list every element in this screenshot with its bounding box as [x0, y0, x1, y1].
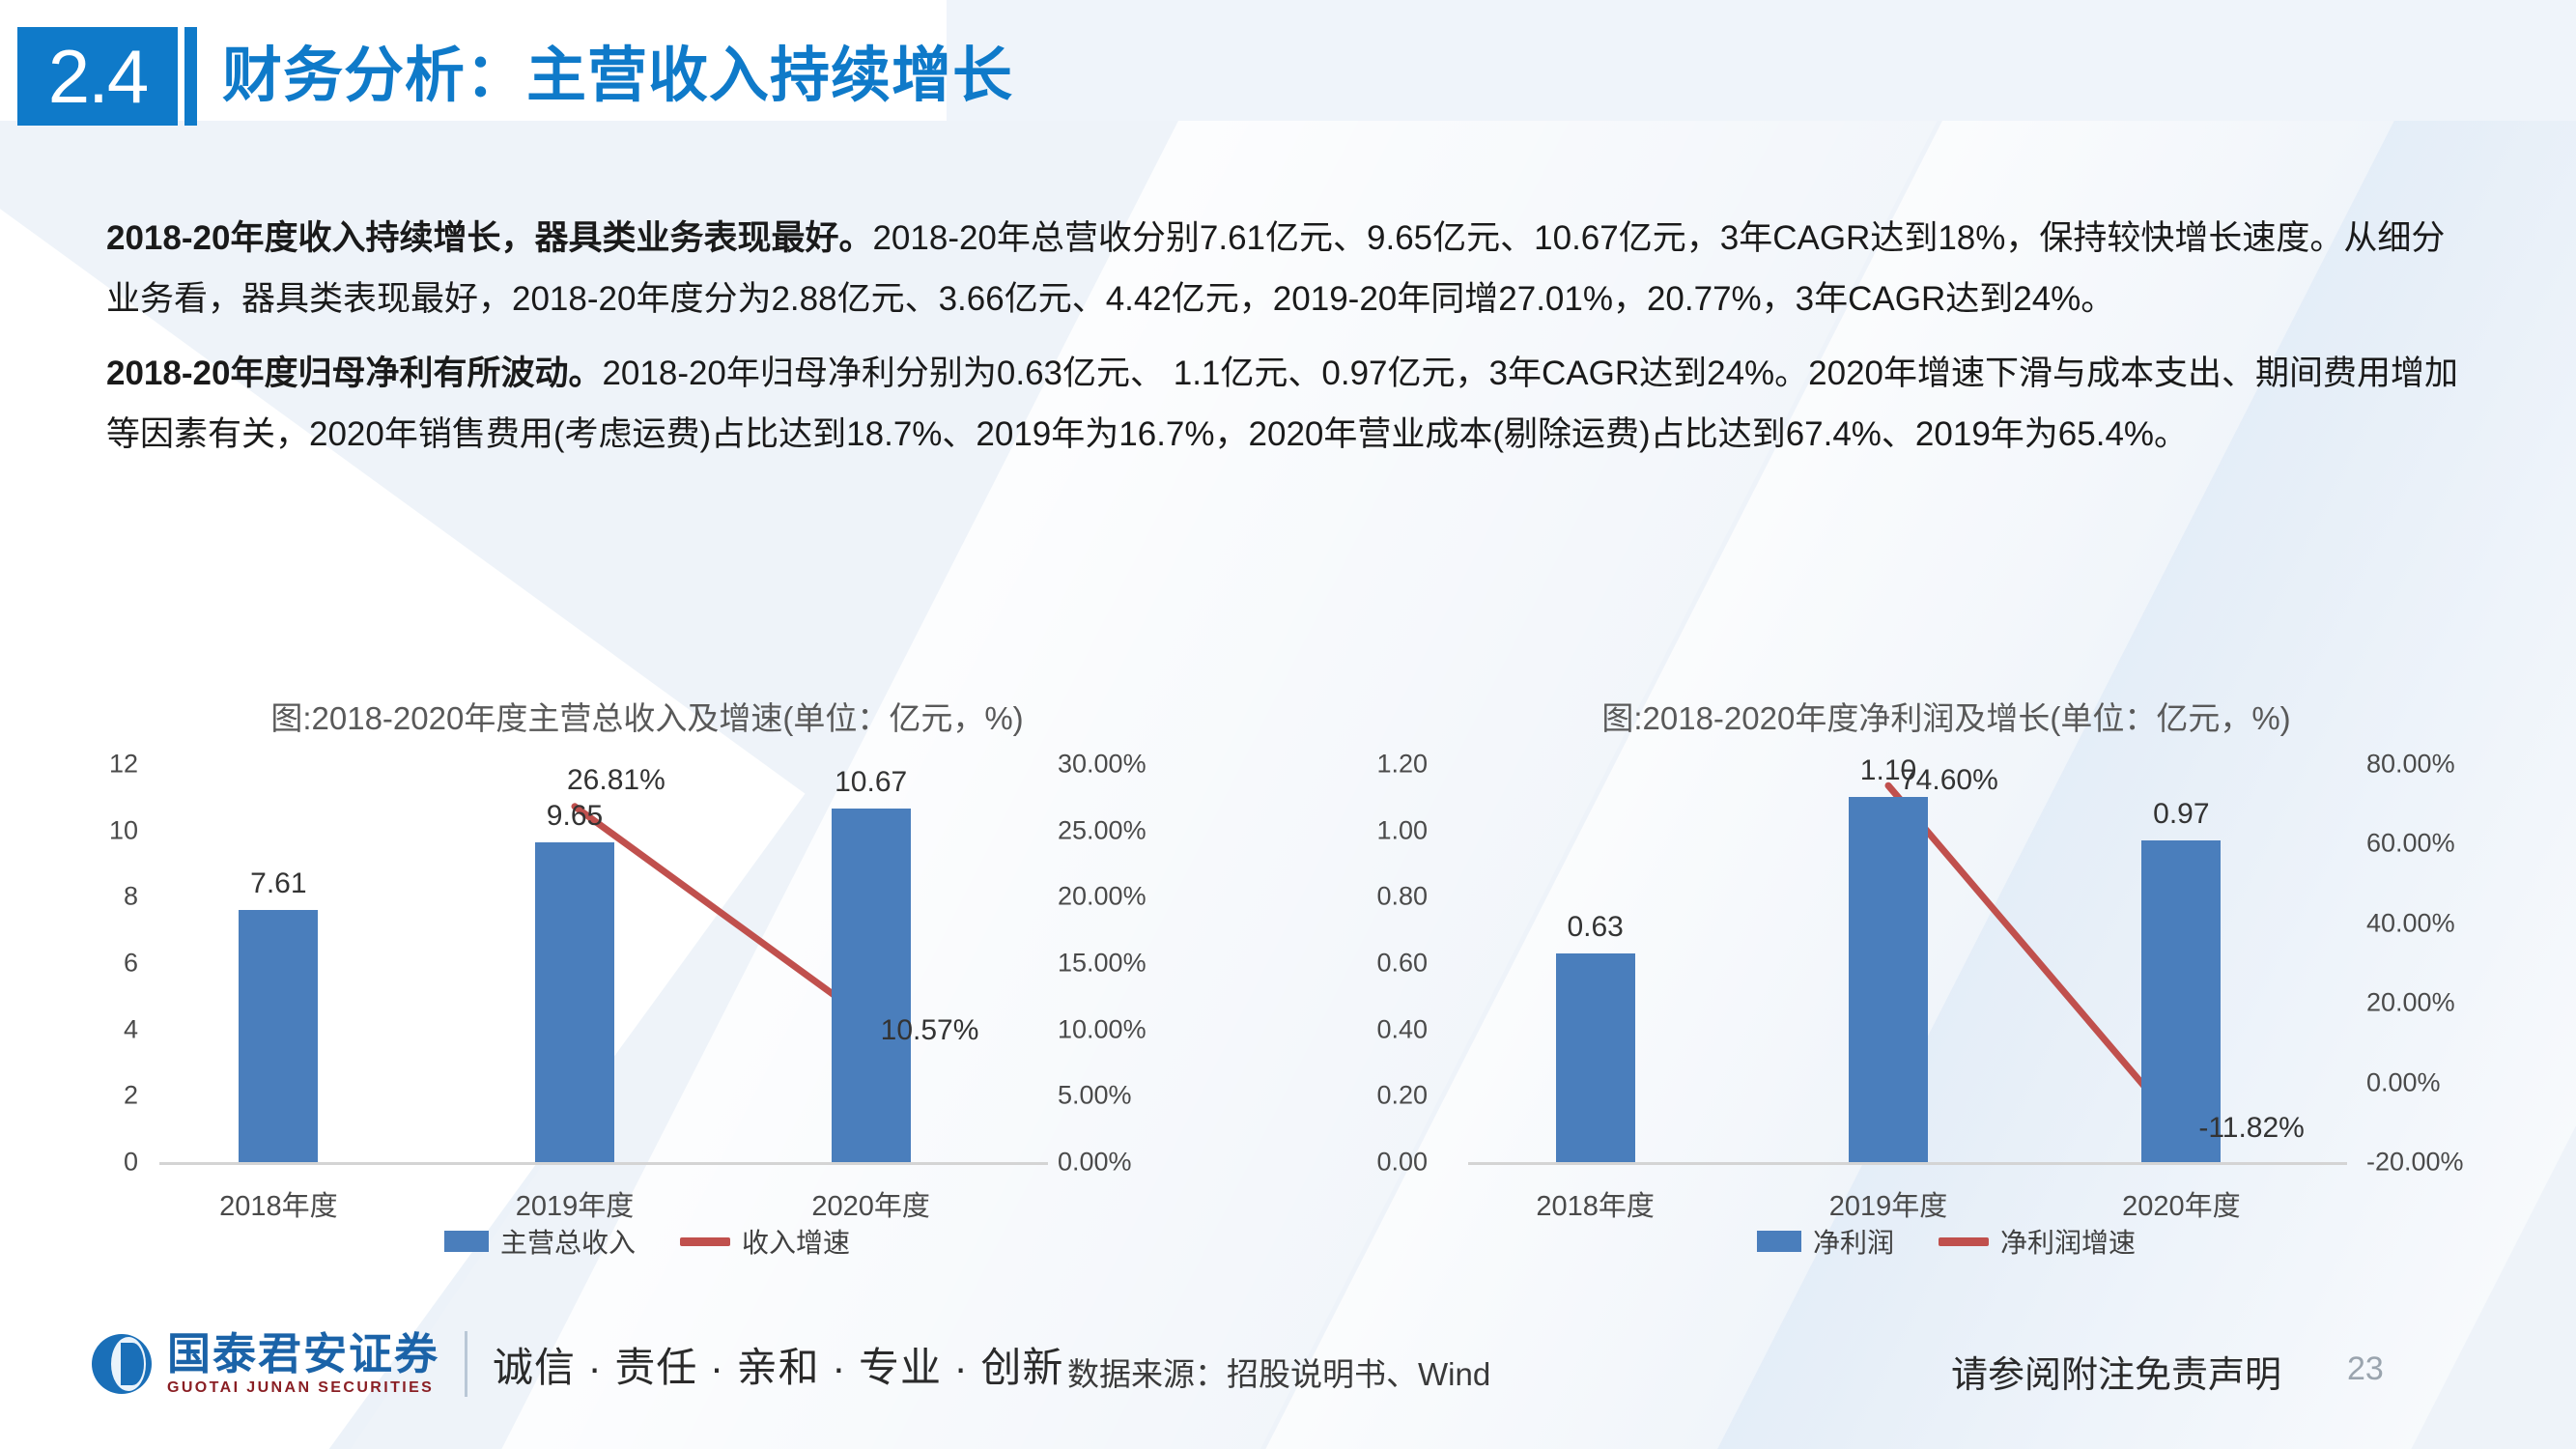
logo-text: 国泰君安证券 GUOTAI JUNAN SECURITIES: [167, 1332, 439, 1397]
y-axis-tick-right: 60.00%: [2366, 829, 2550, 859]
x-axis-tick: 2020年度: [2122, 1183, 2241, 1224]
chart-profit: 图:2018-2020年度净利润及增长(单位：亿元，%) 0.000.200.4…: [1343, 681, 2550, 1299]
header-accent-bar: [184, 27, 197, 126]
y-axis-tick-right: 80.00%: [2366, 750, 2550, 780]
body-text-block: 2018-20年度收入持续增长，器具类业务表现最好。2018-20年总营收分别7…: [106, 208, 2473, 478]
legend-label-line: 收入增速: [742, 1222, 850, 1261]
chart-revenue-legend: 主营总收入 收入增速: [53, 1222, 1241, 1261]
bar-2018年度: [239, 910, 318, 1162]
y-axis-tick-left: 4: [53, 1014, 138, 1044]
y-axis-tick-left: 12: [53, 750, 138, 780]
slide-header: 2.4 财务分析：主营收入持续增长: [17, 27, 1013, 126]
y-axis-tick-left: 0.60: [1343, 949, 1428, 979]
y-axis-tick-left: 2: [53, 1081, 138, 1111]
slide-page: 2.4 财务分析：主营收入持续增长 2018-20年度收入持续增长，器具类业务表…: [0, 0, 2576, 1449]
legend-item-line: 收入增速: [680, 1222, 850, 1261]
bar-2020年度: [832, 809, 911, 1162]
y-axis-tick-right: 25.00%: [1058, 815, 1241, 845]
bar-value-label: 10.67: [835, 766, 907, 799]
bar-value-label: 0.63: [1567, 911, 1623, 944]
chart-revenue-plot: 0246810120.00%5.00%10.00%15.00%20.00%25.…: [53, 756, 1241, 1172]
line-value-label: 10.57%: [881, 1014, 979, 1047]
chart-profit-plot: 0.000.200.400.600.801.001.20-20.00%0.00%…: [1343, 756, 2550, 1172]
chart-profit-line: [1343, 756, 2550, 1172]
chart-profit-title: 图:2018-2020年度净利润及增长(单位：亿元，%): [1343, 681, 2550, 739]
logo-name-en: GUOTAI JUNAN SECURITIES: [167, 1379, 439, 1397]
paragraph-1: 2018-20年度收入持续增长，器具类业务表现最好。2018-20年总营收分别7…: [106, 208, 2473, 329]
logo-name-cn: 国泰君安证券: [167, 1332, 439, 1376]
y-axis-tick-right: 40.00%: [2366, 908, 2550, 938]
legend-item-bar: 主营总收入: [444, 1222, 636, 1261]
x-axis-tick: 2018年度: [1536, 1183, 1655, 1224]
x-axis-tick: 2018年度: [219, 1183, 338, 1224]
y-axis-tick-left: 0.80: [1343, 882, 1428, 912]
y-axis-tick-left: 0.00: [1343, 1148, 1428, 1178]
paragraph-2: 2018-20年度归母净利有所波动。2018-20年归母净利分别为0.63亿元、…: [106, 343, 2473, 465]
x-axis-line: [1468, 1162, 2347, 1165]
bar-value-label: 7.61: [250, 867, 306, 900]
legend-item-line: 净利润增速: [1939, 1222, 2136, 1261]
y-axis-tick-left: 0: [53, 1148, 138, 1178]
legend-label-bar: 净利润: [1813, 1222, 1894, 1261]
y-axis-tick-right: 20.00%: [1058, 882, 1241, 912]
bar-value-label: 9.65: [547, 800, 603, 833]
slide-footer: 国泰君安证券 GUOTAI JUNAN SECURITIES 诚信 · 责任 ·…: [0, 1323, 2576, 1449]
logo-divider: [465, 1331, 467, 1397]
line-swatch-icon: [680, 1237, 730, 1246]
x-axis-line: [159, 1162, 1048, 1165]
y-axis-tick-right: 5.00%: [1058, 1081, 1241, 1111]
chart-profit-legend: 净利润 净利润增速: [1343, 1222, 2550, 1261]
legend-item-bar: 净利润: [1757, 1222, 1894, 1261]
bar-2019年度: [1849, 797, 1928, 1162]
chart-revenue: 图:2018-2020年度主营总收入及增速(单位：亿元，%) 024681012…: [53, 681, 1241, 1299]
legend-label-bar: 主营总收入: [500, 1222, 636, 1261]
paragraph-2-lead: 2018-20年度归母净利有所波动。: [106, 355, 602, 392]
y-axis-tick-left: 1.20: [1343, 750, 1428, 780]
x-axis-tick: 2019年度: [1829, 1183, 1948, 1224]
disclaimer-note: 请参阅附注免责声明: [1951, 1345, 2281, 1398]
charts-row: 图:2018-2020年度主营总收入及增速(单位：亿元，%) 024681012…: [0, 681, 2576, 1299]
y-axis-tick-right: 20.00%: [2366, 988, 2550, 1018]
company-logo: 国泰君安证券 GUOTAI JUNAN SECURITIES 诚信 · 责任 ·…: [92, 1331, 1063, 1397]
y-axis-tick-right: 0.00%: [2366, 1067, 2550, 1097]
y-axis-tick-left: 8: [53, 882, 138, 912]
y-axis-tick-left: 1.00: [1343, 815, 1428, 845]
y-axis-tick-right: 30.00%: [1058, 750, 1241, 780]
y-axis-tick-left: 0.40: [1343, 1014, 1428, 1044]
bar-swatch-icon: [444, 1231, 489, 1252]
logo-mark-icon: [92, 1334, 152, 1394]
bar-2018年度: [1556, 953, 1635, 1162]
bar-value-label: 0.97: [2153, 798, 2209, 831]
y-axis-tick-left: 10: [53, 815, 138, 845]
bar-swatch-icon: [1757, 1231, 1801, 1252]
y-axis-tick-left: 6: [53, 949, 138, 979]
data-source-note: 数据来源：招股说明书、Wind: [1067, 1349, 1490, 1395]
bar-2019年度: [535, 842, 614, 1162]
x-axis-tick: 2020年度: [811, 1183, 930, 1224]
x-axis-tick: 2019年度: [516, 1183, 635, 1224]
y-axis-tick-right: 10.00%: [1058, 1014, 1241, 1044]
y-axis-tick-right: 0.00%: [1058, 1148, 1241, 1178]
line-swatch-icon: [1939, 1237, 1989, 1246]
line-value-label: 26.81%: [567, 764, 665, 797]
y-axis-tick-right: 15.00%: [1058, 949, 1241, 979]
company-slogan: 诚信 · 责任 · 亲和 · 专业 · 创新: [493, 1335, 1063, 1394]
page-number: 23: [2347, 1350, 2384, 1388]
line-value-label: -11.82%: [2198, 1112, 2305, 1145]
section-number-badge: 2.4: [17, 27, 178, 126]
chart-revenue-title: 图:2018-2020年度主营总收入及增速(单位：亿元，%): [53, 681, 1241, 739]
page-title: 财务分析：主营收入持续增长: [222, 46, 1013, 106]
legend-label-line: 净利润增速: [2000, 1222, 2136, 1261]
line-value-label: 74.60%: [1900, 764, 1998, 797]
y-axis-tick-right: -20.00%: [2366, 1148, 2550, 1178]
y-axis-tick-left: 0.20: [1343, 1081, 1428, 1111]
paragraph-1-lead: 2018-20年度收入持续增长，器具类业务表现最好。: [106, 219, 872, 257]
